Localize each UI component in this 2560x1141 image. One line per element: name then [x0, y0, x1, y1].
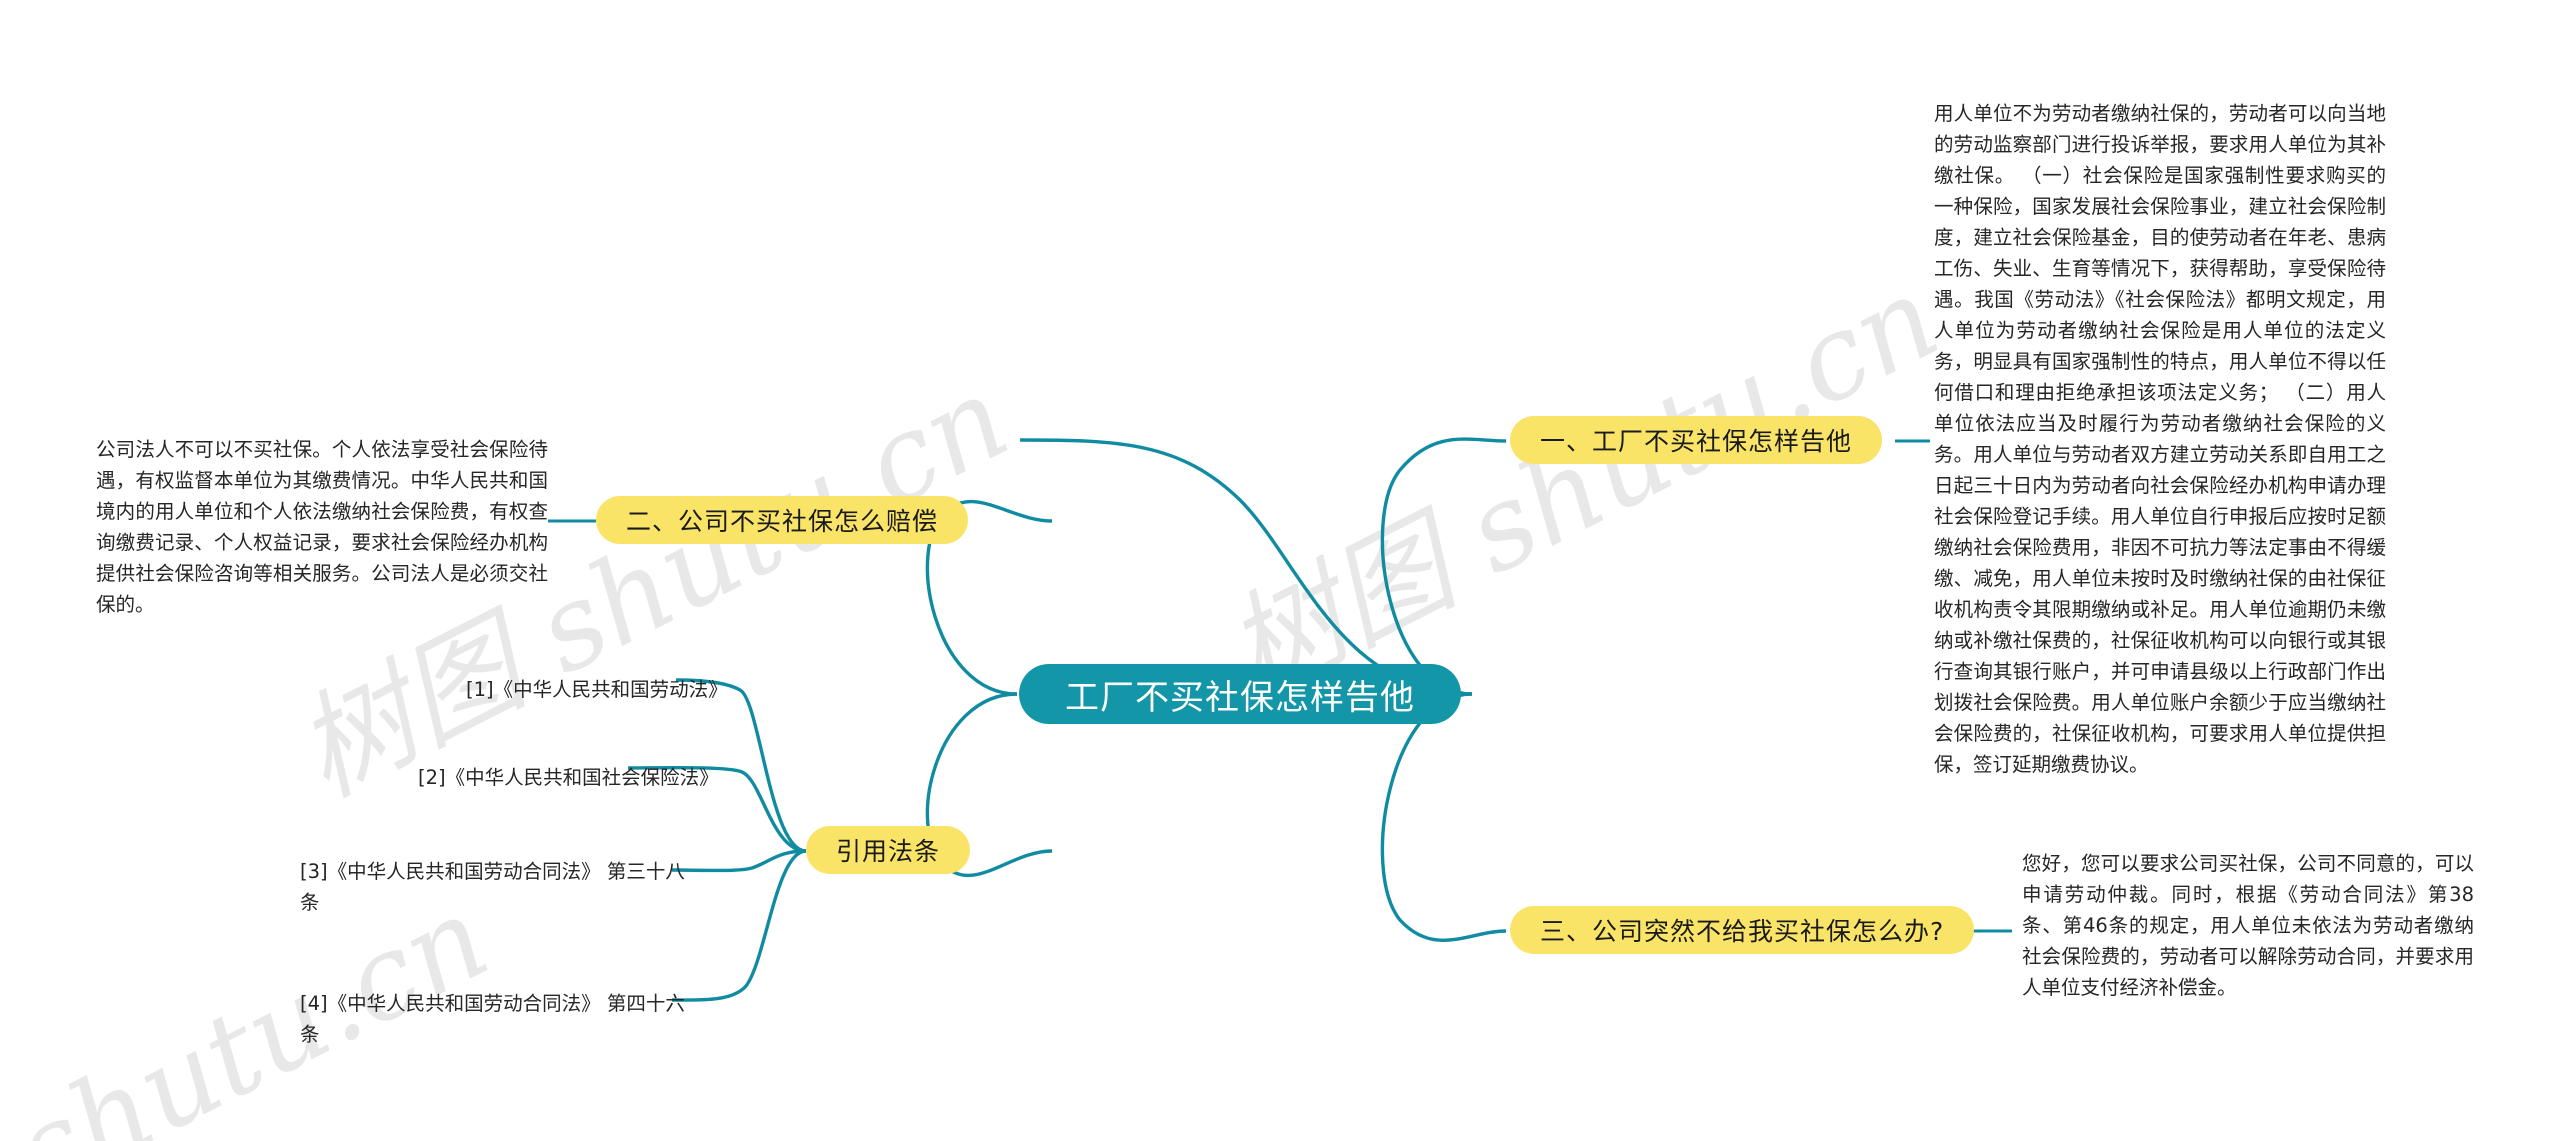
law-citation-item: [2]《中华人民共和国社会保险法》: [418, 762, 818, 793]
detail-text-bottom-right: 您好，您可以要求公司买社保，公司不同意的，可以申请劳动仲裁。同时，根据《劳动合同…: [2022, 848, 2474, 1003]
edge-to-one: [1382, 439, 1506, 694]
law-citation-item: [1]《中华人民共和国劳动法》: [466, 674, 866, 705]
topic-node-citations[interactable]: 引用法条: [806, 826, 970, 874]
topic-node-one[interactable]: 一、工厂不买社保怎样告他: [1510, 416, 1882, 464]
root-node-label: 工厂不买社保怎样告他: [1065, 670, 1415, 719]
detail-text-left: 公司法人不可以不买社保。个人依法享受社会保险待遇，有权监督本单位为其缴费情况。中…: [96, 434, 548, 620]
topic-node-three[interactable]: 三、公司突然不给我买社保怎么办?: [1510, 906, 1974, 954]
mindmap-canvas: 树图 shutu.cn 树图 shutu.cn 树图 shutu.cn: [0, 0, 2560, 1141]
edge-root-to-topic-one: [1020, 440, 1471, 694]
edge-to-three: [1382, 694, 1506, 940]
law-citation-item: [3]《中华人民共和国劳动合同法》 第三十八条: [300, 856, 700, 918]
law-citation-item: [4]《中华人民共和国劳动合同法》 第四十六条: [300, 988, 700, 1050]
edge-law-branches: [628, 680, 806, 1000]
topic-node-citations-label: 引用法条: [836, 832, 940, 868]
topic-node-one-label: 一、工厂不买社保怎样告他: [1540, 422, 1852, 458]
topic-node-two[interactable]: 二、公司不买社保怎么赔偿: [596, 496, 968, 544]
root-node[interactable]: 工厂不买社保怎样告他: [1019, 664, 1461, 724]
detail-text-top-right: 用人单位不为劳动者缴纳社保的，劳动者可以向当地的劳动监察部门进行投诉举报，要求用…: [1934, 98, 2386, 780]
topic-node-three-label: 三、公司突然不给我买社保怎么办?: [1540, 912, 1944, 948]
topic-node-two-label: 二、公司不买社保怎么赔偿: [626, 502, 938, 538]
